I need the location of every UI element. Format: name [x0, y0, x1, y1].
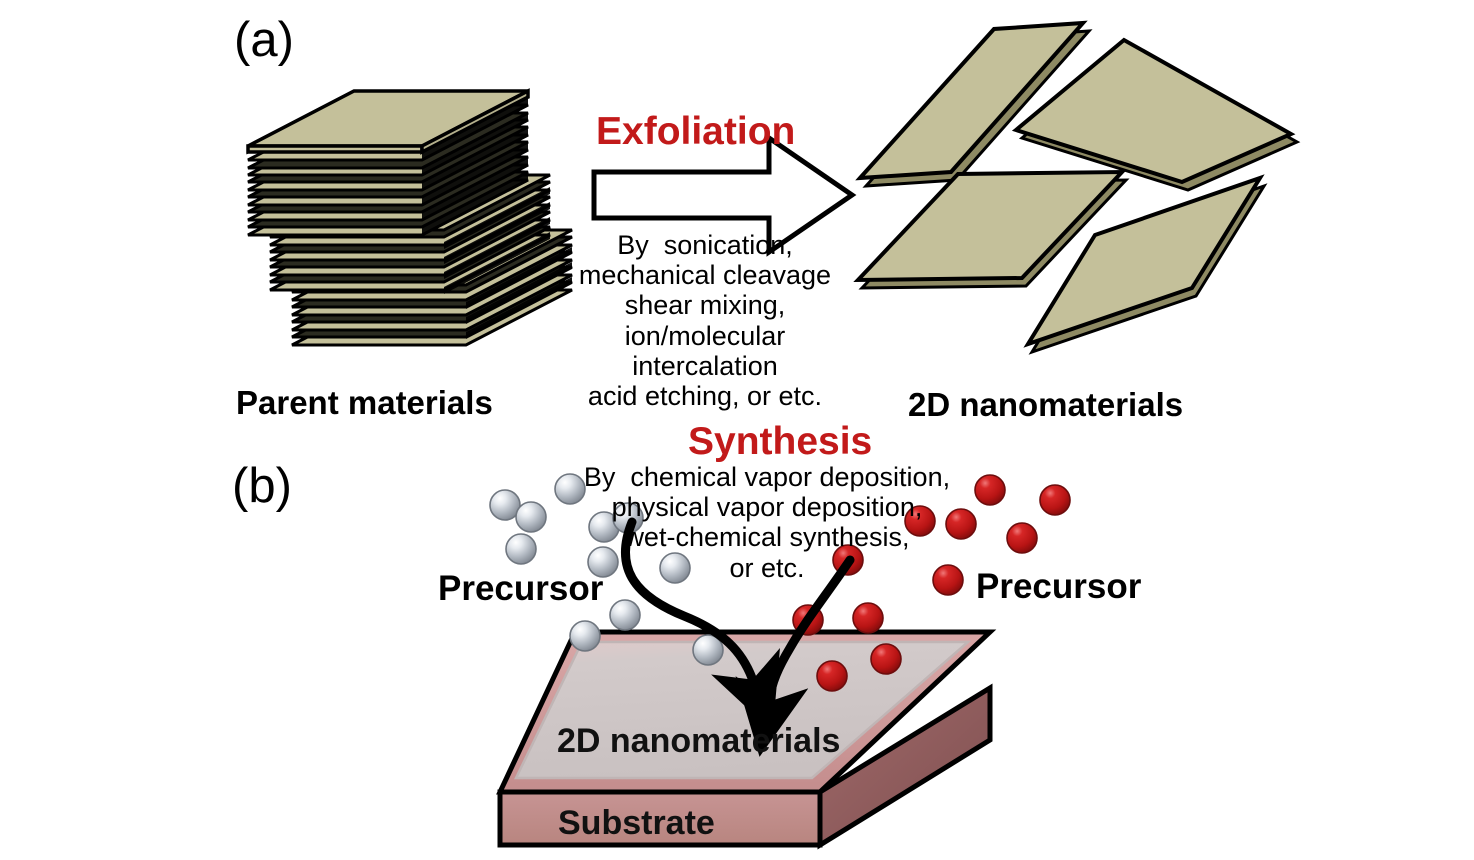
exfoliation-heading: Exfoliation	[596, 112, 795, 151]
substrate-label: Substrate	[558, 806, 715, 840]
precursor-label-right: Precursor	[976, 569, 1141, 604]
synthesis-heading: Synthesis	[688, 422, 872, 461]
panel-a-label: (a)	[234, 16, 294, 65]
panel-b-label: (b)	[232, 462, 292, 511]
nanomaterials-caption: 2D nanomaterials	[908, 388, 1183, 421]
film-label: 2D nanomaterials	[557, 724, 840, 758]
exfoliated-flakes-group	[858, 23, 1297, 352]
parent-materials-caption: Parent materials	[236, 386, 493, 419]
exfoliation-method-text: By sonication, mechanical cleavage shear…	[575, 230, 835, 411]
synthesis-method-text: By chemical vapor deposition, physical v…	[577, 462, 957, 583]
parent-material-stack	[248, 91, 572, 345]
figure-root: (a) Exfoliation By sonication, mechanica…	[0, 0, 1474, 860]
precursor-label-left: Precursor	[438, 571, 603, 606]
